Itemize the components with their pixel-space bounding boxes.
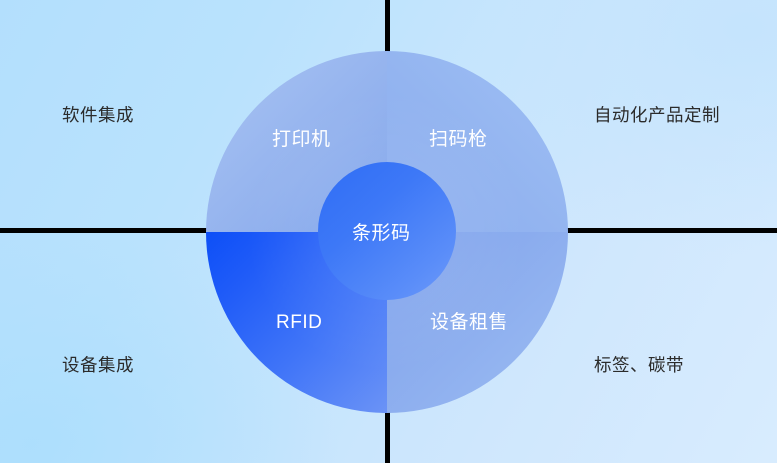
outer-label-device-integration: 设备集成: [62, 357, 134, 375]
ring-label-rental: 设备租售: [430, 313, 508, 332]
outer-label-automation-product-customization: 自动化产品定制: [594, 107, 720, 125]
center-circle-label: 条形码: [352, 224, 411, 243]
outer-label-labels-and-ribbons: 标签、碳带: [594, 357, 684, 375]
diagram-canvas: 打印机 扫码枪 RFID 设备租售 条形码 软件集成 自动化产品定制 设备集成 …: [0, 0, 777, 463]
ring-label-rfid: RFID: [276, 313, 322, 332]
ring-label-printer: 打印机: [272, 130, 331, 149]
ring-label-scanner: 扫码枪: [429, 130, 488, 149]
outer-label-software-integration: 软件集成: [62, 107, 134, 125]
